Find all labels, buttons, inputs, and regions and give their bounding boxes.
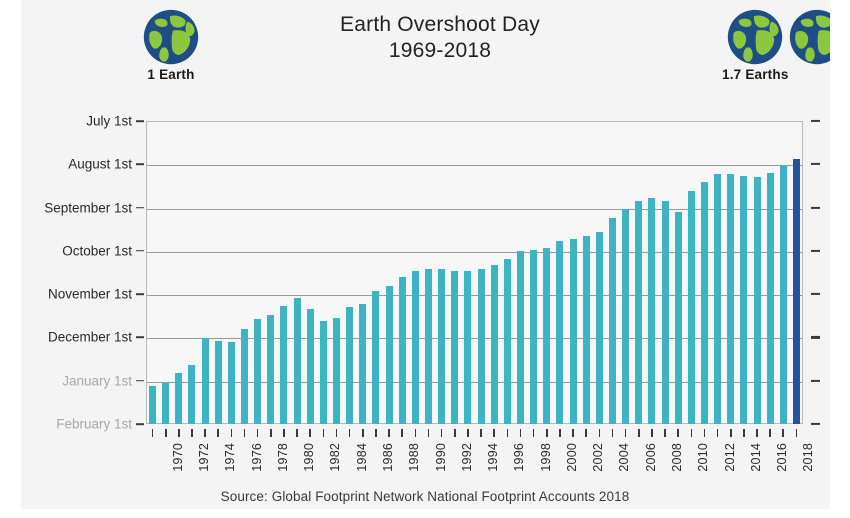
x-axis-tick-mark — [769, 429, 771, 437]
x-axis-tick-mark — [257, 429, 259, 437]
y-axis-tick-mark — [136, 337, 144, 339]
x-axis-tick-mark — [704, 429, 706, 437]
x-axis-tick-mark — [467, 429, 469, 437]
x-axis-tick-mark — [244, 429, 246, 437]
x-axis-tick-label: 1992 — [460, 443, 474, 472]
x-axis-tick-mark — [309, 429, 311, 437]
x-axis-tick-mark — [559, 429, 561, 437]
x-axis-tick-label: 2014 — [749, 443, 763, 472]
y-axis-tick-mark — [136, 163, 144, 165]
x-axis-tick-mark — [546, 429, 548, 437]
x-axis-tick-label: 2008 — [670, 443, 684, 472]
x-axis-tick-mark — [691, 429, 693, 437]
x-axis-tick-mark — [270, 429, 272, 437]
x-axis-tick-label: 2018 — [801, 443, 815, 472]
x-axis-tick-mark — [217, 429, 219, 437]
x-axis-tick-mark — [178, 429, 180, 437]
page-margin-right — [830, 0, 850, 518]
x-axis-tick-mark — [231, 429, 233, 437]
x-axis-tick-mark — [625, 429, 627, 437]
y-axis-tick-mark-right — [811, 336, 820, 338]
x-axis-tick-label: 2012 — [723, 443, 737, 472]
x-axis-tick-label: 1972 — [197, 443, 211, 472]
x-axis-tick-mark — [454, 429, 456, 437]
x-axis-tick-mark — [638, 429, 640, 437]
x-axis-tick-mark — [152, 429, 154, 437]
y-axis-tick-mark — [136, 207, 144, 209]
x-axis-tick-mark — [756, 429, 758, 437]
x-axis-tick-mark — [599, 429, 601, 437]
x-axis: 1970197219741976197819801982198419861988… — [0, 0, 850, 518]
x-axis-tick-label: 1970 — [171, 443, 185, 472]
x-axis-tick-mark — [782, 429, 784, 437]
x-axis-tick-label: 1994 — [486, 443, 500, 472]
x-axis-tick-mark — [520, 429, 522, 437]
x-axis-tick-mark — [388, 429, 390, 437]
y-axis-tick-mark-right — [811, 206, 820, 208]
x-axis-tick-mark — [283, 429, 285, 437]
x-axis-tick-label: 2000 — [565, 443, 579, 472]
x-axis-tick-mark — [191, 429, 193, 437]
x-axis-tick-mark — [349, 429, 351, 437]
page-margin-left — [0, 0, 21, 518]
x-axis-tick-label: 1986 — [381, 443, 395, 472]
x-axis-tick-label: 1996 — [512, 443, 526, 472]
x-axis-tick-mark — [717, 429, 719, 437]
y-axis-tick-mark — [136, 293, 144, 295]
x-axis-tick-label: 2002 — [591, 443, 605, 472]
x-axis-tick-mark — [743, 429, 745, 437]
x-axis-tick-mark — [375, 429, 377, 437]
x-axis-tick-mark — [612, 429, 614, 437]
x-axis-tick-mark — [651, 429, 653, 437]
x-axis-tick-label: 1998 — [539, 443, 553, 472]
y-axis-tick-mark — [136, 380, 144, 382]
x-axis-tick-label: 1982 — [328, 443, 342, 472]
x-axis-tick-label: 1988 — [407, 443, 421, 472]
y-axis-tick-mark-right — [811, 163, 820, 165]
x-axis-tick-mark — [585, 429, 587, 437]
plot-wrapper: July 1stAugust 1stSeptember 1stOctober 1… — [0, 0, 850, 518]
x-axis-tick-mark — [296, 429, 298, 437]
y-axis-tick-mark — [136, 120, 144, 122]
x-axis-tick-mark — [533, 429, 535, 437]
y-axis-tick-mark-right — [811, 380, 820, 382]
page-margin-bottom — [0, 509, 850, 518]
x-axis-tick-label: 1984 — [355, 443, 369, 472]
x-axis-tick-mark — [677, 429, 679, 437]
x-axis-tick-mark — [664, 429, 666, 437]
x-axis-tick-mark — [493, 429, 495, 437]
x-axis-tick-label: 1978 — [276, 443, 290, 472]
x-axis-tick-mark — [441, 429, 443, 437]
x-axis-tick-mark — [796, 429, 798, 437]
y-axis-tick-mark — [136, 250, 144, 252]
x-axis-tick-label: 2004 — [617, 443, 631, 472]
x-axis-tick-mark — [480, 429, 482, 437]
source-caption: Source: Global Footprint Network Nationa… — [0, 489, 850, 504]
x-axis-tick-mark — [507, 429, 509, 437]
x-axis-tick-label: 2016 — [775, 443, 789, 472]
x-axis-tick-mark — [401, 429, 403, 437]
y-axis-tick-mark-right — [811, 423, 820, 425]
x-axis-tick-label: 1974 — [223, 443, 237, 472]
x-axis-tick-mark — [204, 429, 206, 437]
x-axis-tick-label: 1980 — [302, 443, 316, 472]
x-axis-tick-mark — [323, 429, 325, 437]
x-axis-tick-label: 2006 — [644, 443, 658, 472]
x-axis-tick-mark — [336, 429, 338, 437]
x-axis-tick-mark — [415, 429, 417, 437]
x-axis-tick-mark — [572, 429, 574, 437]
y-axis-tick-mark-right — [811, 120, 820, 122]
x-axis-tick-mark — [362, 429, 364, 437]
chart-root: Earth Overshoot Day 1969-2018 1 Earth — [0, 0, 850, 518]
x-axis-tick-mark — [165, 429, 167, 437]
x-axis-tick-mark — [428, 429, 430, 437]
x-axis-tick-label: 1990 — [434, 443, 448, 472]
y-axis-tick-mark — [136, 423, 144, 425]
y-axis-tick-mark-right — [811, 293, 820, 295]
x-axis-tick-label: 1976 — [250, 443, 264, 472]
y-axis-tick-mark-right — [811, 250, 820, 252]
x-axis-tick-label: 2010 — [696, 443, 710, 472]
x-axis-tick-mark — [730, 429, 732, 437]
